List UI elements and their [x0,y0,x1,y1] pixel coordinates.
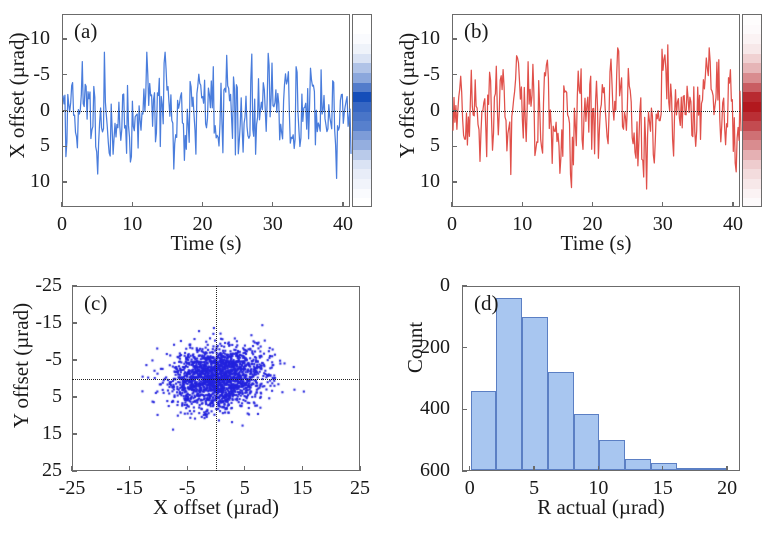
axis-title-x-a: Time (s) [96,232,316,254]
ytick-d-3 [462,285,467,286]
xtick-a-0 [61,202,62,207]
zero-line-a [62,111,350,112]
ytick-d-1 [462,409,467,410]
xtick-a-1 [132,202,133,207]
axis-title-y-a: X offset (µrad) [6,0,28,222]
plot-frame-d [462,286,740,471]
ytick-d-0 [462,470,467,471]
ytick-d-2 [462,347,467,348]
histogram-bar-5 [599,440,625,470]
ytick-a-0 [62,181,67,182]
histogram-bar-8 [677,468,703,470]
xtick-d-1 [533,466,534,471]
panel-tag-b: (b) [464,20,489,42]
histogram-bar-4 [574,414,600,470]
ytick-c-1 [72,433,77,434]
trace-a [63,15,351,208]
ytick-c-2 [72,396,77,397]
xtick-label-a-4: 40 [303,214,383,234]
axis-title-y-d: Count [404,225,426,470]
ytick-c-4 [72,322,77,323]
histogram-bar-9 [702,468,728,470]
xtick-d-3 [662,466,663,471]
density-band-a-19 [353,198,371,207]
xtick-d-4 [726,466,727,471]
xtick-b-1 [522,202,523,207]
xtick-d-0 [469,466,470,471]
histogram-bar-0 [471,391,497,470]
trace-b [453,15,741,208]
xtick-b-0 [451,202,452,207]
xtick-label-c-5: 25 [320,478,400,498]
histogram-bar-3 [548,372,574,470]
ytick-b-4 [452,38,457,39]
axis-title-x-c: X offset (µrad) [106,496,326,518]
panel-tag-d: (d) [474,292,499,314]
ytick-b-0 [452,181,457,182]
xtick-label-b-3: 30 [623,214,703,234]
histogram-bar-6 [625,459,651,470]
xtick-label-b-4: 40 [693,214,773,234]
axis-title-y-c: Y offset (µrad) [10,243,32,488]
xtick-a-2 [202,202,203,207]
density-strip-b [742,14,762,207]
panel-tag-a: (a) [74,20,97,42]
histogram-bar-1 [496,298,522,470]
xtick-b-3 [662,202,663,207]
ytick-c-3 [72,359,77,360]
histogram-bar-7 [651,463,677,470]
ytick-a-4 [62,38,67,39]
ytick-c-0 [72,470,77,471]
ytick-b-3 [452,74,457,75]
ytick-b-1 [452,146,457,147]
histogram-bar-2 [522,317,548,470]
figure-root: 0102030401050-5-10Time (s)X offset (µrad… [0,0,779,539]
xtick-label-a-3: 30 [233,214,313,234]
xtick-label-a-0: 0 [22,214,102,234]
ytick-a-3 [62,74,67,75]
density-band-b-19 [743,198,761,207]
zero-line-b [452,111,740,112]
axis-title-x-d: R actual (µrad) [491,496,711,518]
xtick-c-5 [359,466,360,471]
ytick-c-5 [72,285,77,286]
xtick-c-3 [244,466,245,471]
xtick-d-2 [598,466,599,471]
axis-title-y-b: Y offset (µrad) [396,0,418,222]
scatter-points-c [73,287,361,472]
axis-title-x-b: Time (s) [486,232,706,254]
panel-tag-c: (c) [84,292,107,314]
xtick-c-2 [187,466,188,471]
crosshair-vertical-c [216,286,217,471]
xtick-label-b-1: 10 [482,214,562,234]
xtick-b-2 [592,202,593,207]
xtick-b-4 [732,202,733,207]
xtick-c-4 [302,466,303,471]
ytick-a-1 [62,146,67,147]
density-strip-a [352,14,372,207]
xtick-c-1 [129,466,130,471]
xtick-a-4 [342,202,343,207]
xtick-label-a-1: 10 [92,214,172,234]
xtick-a-3 [272,202,273,207]
xtick-label-d-4: 20 [687,478,767,498]
